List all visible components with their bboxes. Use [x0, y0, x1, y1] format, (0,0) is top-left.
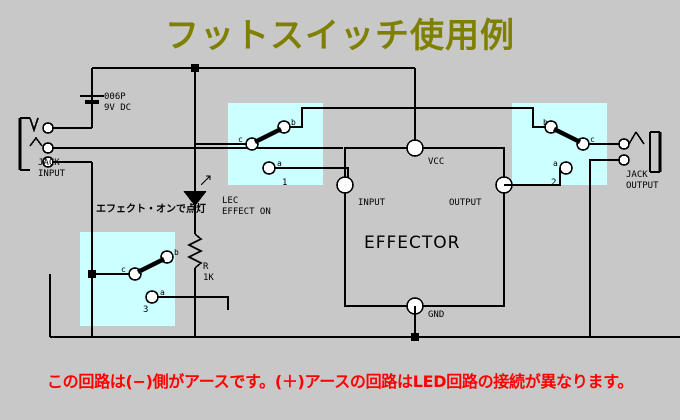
- sw2-terminal-a: [560, 162, 572, 174]
- led-note: エフェクト・オンで点灯: [96, 204, 206, 215]
- effector-name: EFFECTOR: [364, 238, 461, 249]
- sw2-number: 2: [551, 178, 556, 189]
- diagram-canvas: フットスイッチ使用例: [0, 0, 680, 420]
- sw2-label-c: c: [590, 134, 595, 145]
- junction-dot-sw3: [88, 270, 96, 278]
- switch-box-3: [80, 232, 175, 326]
- footer-note: この回路は(−)側がアースです。(＋)アースの回路はLED回路の接続が異なります…: [0, 368, 680, 392]
- sw1-label-c: c: [238, 134, 243, 145]
- sw2-label-a: a: [553, 158, 558, 169]
- battery-label: 006P 9V DC: [104, 92, 131, 114]
- led-label: LEC EFFECT ON: [222, 196, 271, 218]
- effector-output-label: OUTPUT: [449, 198, 482, 209]
- effector-input-label: INPUT: [358, 198, 385, 209]
- sw1-label-a: a: [277, 158, 282, 169]
- junction-dot-top: [191, 64, 199, 72]
- sw3-label-c: c: [121, 264, 126, 275]
- output-jack-label: JACK OUTPUT: [626, 170, 659, 192]
- sw1-terminal-a: [263, 162, 275, 174]
- sw3-label-b: b: [174, 247, 179, 258]
- effector-vcc-label: VCC: [428, 157, 444, 168]
- sw3-terminal-a: [146, 291, 158, 303]
- effector-vcc-pin: [407, 140, 423, 156]
- sw1-label-b: b: [291, 117, 296, 128]
- sw1-number: 1: [282, 178, 287, 189]
- effector-input-pin: [337, 177, 353, 193]
- resistor-label: R 1K: [203, 262, 214, 284]
- sw3-number: 3: [143, 305, 148, 316]
- input-jack-label: JACK INPUT: [38, 158, 65, 180]
- effector-gnd-label: GND: [428, 310, 444, 321]
- sw2-label-b: b: [543, 117, 548, 128]
- sw3-label-a: a: [160, 287, 165, 298]
